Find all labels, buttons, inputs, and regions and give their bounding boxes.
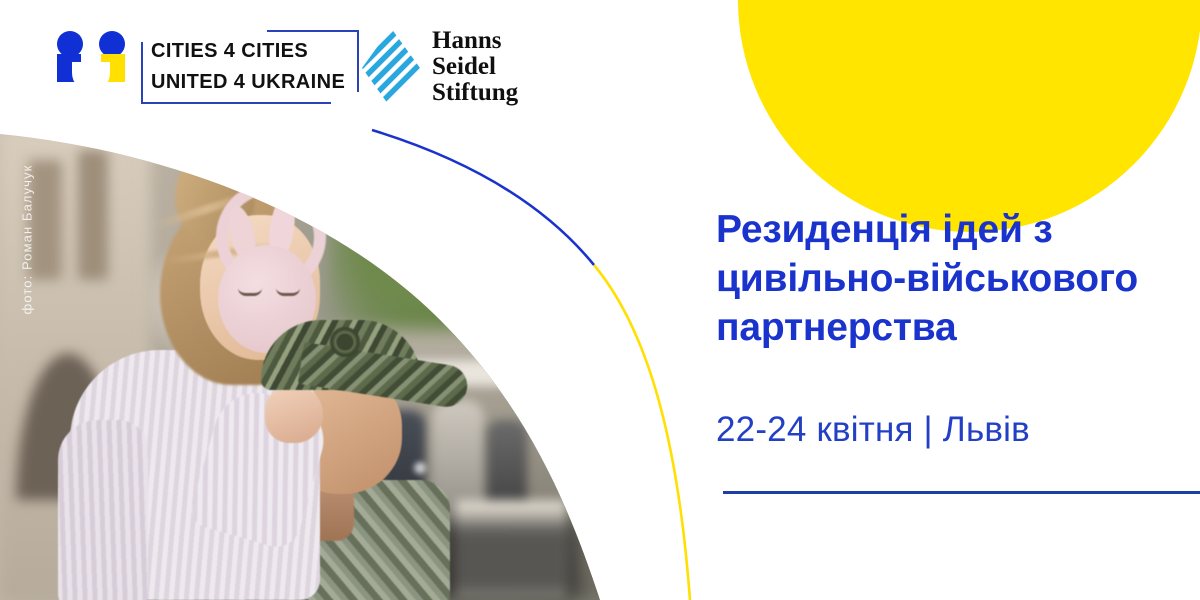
yellow-arc-icon [594, 265, 690, 600]
hanns-seidel-diamond-logo-icon [362, 28, 420, 108]
hanns-seidel-wordmark: Hanns Seidel Stiftung [432, 28, 518, 106]
soldier-cap-badge-icon [330, 327, 360, 357]
cities-4-cities-line1: CITIES 4 CITIES [151, 36, 345, 67]
cities-4-cities-smile-logo-icon [55, 26, 127, 108]
hanns-seidel-line2: Seidel [432, 54, 518, 80]
background-window-icon [78, 150, 108, 280]
event-date-location: 22-24 квітня | Львів [716, 409, 1186, 451]
cities-4-cities-logo[interactable]: CITIES 4 CITIES UNITED 4 UKRAINE [55, 26, 359, 108]
hanns-seidel-line3: Stiftung [432, 80, 518, 106]
blue-arc-icon [372, 130, 594, 265]
event-content: Резиденція ідей з цивільно-військового п… [716, 205, 1186, 451]
content-divider [723, 491, 1200, 494]
hanns-seidel-line1: Hanns [432, 28, 518, 54]
background-bokeh-icon [414, 462, 426, 474]
event-headline: Резиденція ідей з цивільно-військового п… [716, 205, 1186, 352]
header-logos: CITIES 4 CITIES UNITED 4 UKRAINE [0, 0, 1200, 134]
event-banner: Ґ фото: Роман Балучук [0, 0, 1200, 600]
cities-4-cities-wordmark: CITIES 4 CITIES UNITED 4 UKRAINE [141, 30, 359, 104]
cities-4-cities-line2: UNITED 4 UKRAINE [151, 67, 345, 98]
girl-hand-icon [265, 385, 323, 443]
girl-left-sleeve-icon [58, 420, 148, 600]
photo-credit: фото: Роман Балучук [20, 155, 35, 325]
hanns-seidel-logo[interactable]: Hanns Seidel Stiftung [362, 28, 518, 108]
